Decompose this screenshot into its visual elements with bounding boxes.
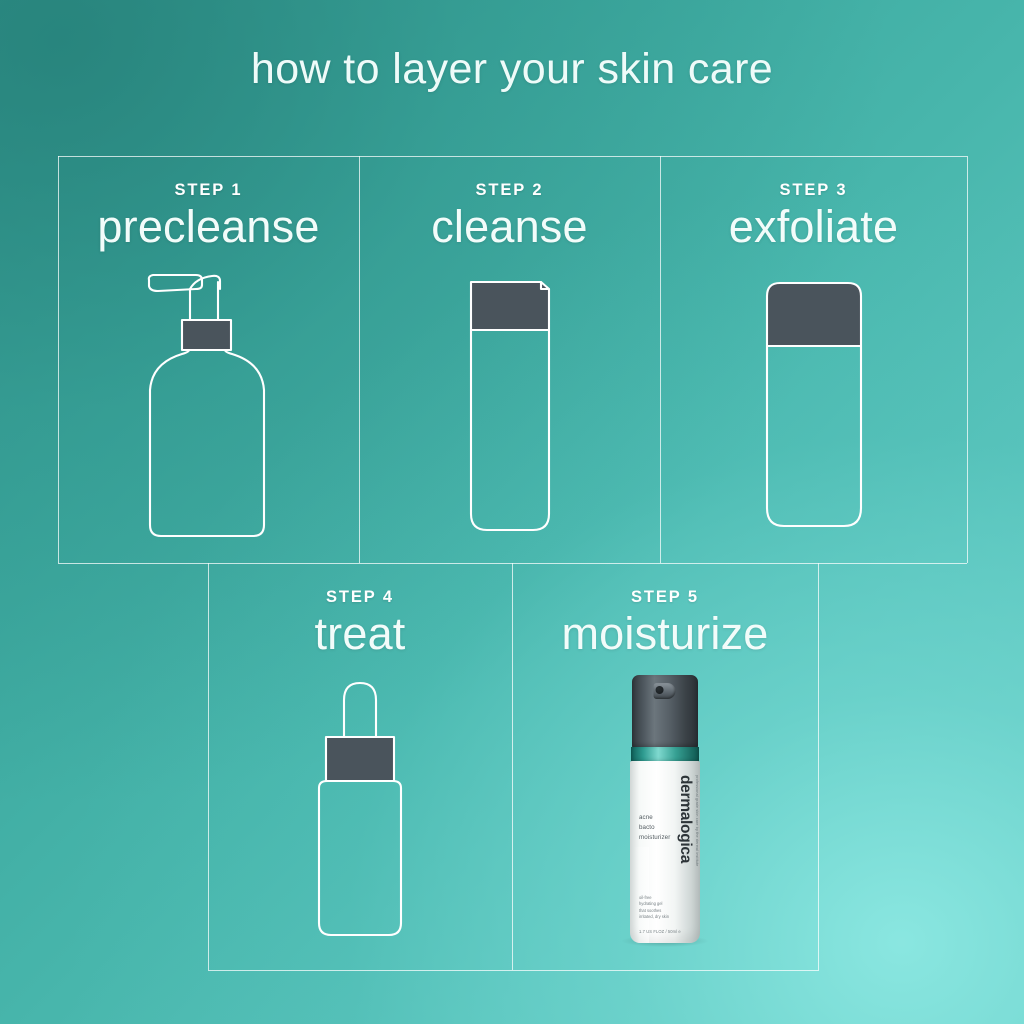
grid-line-bottom-row-bottom — [208, 970, 819, 971]
grid-line-top-row-right — [967, 156, 968, 563]
product-illustration-cleanse — [359, 274, 660, 538]
product-illustration-treat — [208, 675, 512, 943]
pump-bottle-outline-icon — [134, 264, 284, 544]
product-description: oil-free hydrating gel that soothes irri… — [639, 895, 669, 921]
step-name-moisturize: moisturize — [512, 611, 818, 656]
bottle-body: dermalogica professional grade skin care… — [626, 675, 704, 943]
bottle-cap — [632, 675, 698, 749]
step-name-cleanse: cleanse — [359, 204, 660, 249]
step-name-treat: treat — [208, 611, 512, 656]
wide-jar-cap-outline-icon — [756, 276, 872, 536]
brand-name: dermalogica — [678, 775, 694, 863]
brand-tagline: professional grade skin care by the derm… — [694, 775, 698, 867]
step-card-cleanse[interactable]: STEP 2 cleanse — [359, 156, 660, 563]
tall-tube-flip-cap-outline-icon — [455, 274, 565, 538]
step-label-2: STEP 2 — [359, 182, 660, 199]
product-volume: 1.7 US FLOZ / 50ml e — [639, 929, 681, 934]
step-name-precleanse: precleanse — [58, 204, 359, 249]
step-label-1: STEP 1 — [58, 182, 359, 199]
step-card-moisturize[interactable]: STEP 5 moisturize dermalogica profession… — [512, 563, 818, 970]
step-name-exfoliate: exfoliate — [660, 204, 967, 249]
step-label-3: STEP 3 — [660, 182, 967, 199]
step-label-4: STEP 4 — [208, 589, 512, 606]
page-title: how to layer your skin care — [0, 48, 1024, 91]
product-illustration-precleanse — [58, 264, 359, 544]
bottle-label: dermalogica professional grade skin care… — [630, 761, 700, 943]
grid-line-bottom-row-right — [818, 563, 819, 970]
step-label-5: STEP 5 — [512, 589, 818, 606]
step-card-exfoliate[interactable]: STEP 3 exfoliate — [660, 156, 967, 563]
product-photo-moisturizer: dermalogica professional grade skin care… — [626, 675, 704, 943]
product-illustration-exfoliate — [660, 276, 967, 536]
pump-nozzle-icon — [654, 683, 676, 699]
product-name: acne bacto moisturizer — [639, 813, 670, 844]
infographic-canvas: how to layer your skin care STEP 1 precl… — [0, 0, 1024, 1024]
step-card-precleanse[interactable]: STEP 1 precleanse — [58, 156, 359, 563]
dropper-bottle-outline-icon — [299, 675, 421, 943]
step-card-treat[interactable]: STEP 4 treat — [208, 563, 512, 970]
